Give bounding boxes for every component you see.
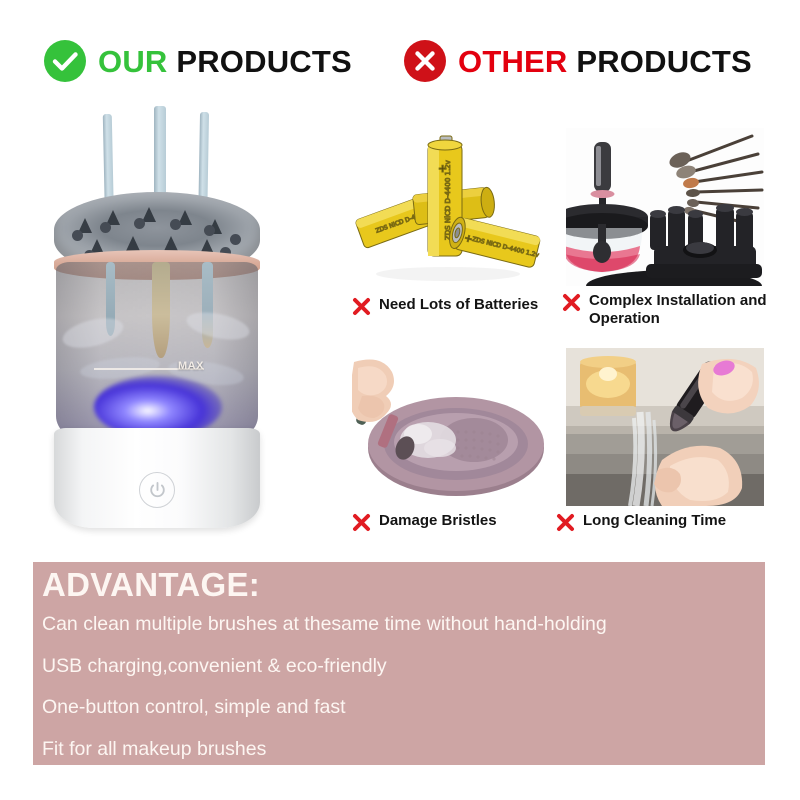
photo-spinner-brush-holder [566, 128, 764, 286]
max-label: MAX [178, 360, 204, 372]
caption-text: Complex Installation and Operation [589, 292, 772, 329]
advantage-item: One-button control, simple and fast [42, 698, 757, 718]
caption-need-lots-of-batteries: Need Lots of Batteries [352, 296, 552, 316]
svg-text:ZDS NiCD D-4400 1.2v: ZDS NiCD D-4400 1.2v [444, 160, 452, 240]
x-mark-icon [556, 513, 575, 532]
header-other-products: OTHER PRODUCTS [404, 40, 752, 82]
advantage-title: ADVANTAGE: [42, 566, 260, 604]
caption-long-cleaning-time: Long Cleaning Time [556, 512, 771, 532]
advantage-item: USB charging,convenient & eco-friendly [42, 657, 757, 677]
caption-text: Long Cleaning Time [583, 512, 726, 530]
caption-damage-bristles: Damage Bristles [352, 512, 552, 532]
caption-complex-installation-and-operation: Complex Installation and Operation [562, 292, 772, 329]
advantage-item: Fit for all makeup brushes [42, 740, 757, 760]
header-our-products: OUR PRODUCTS [44, 40, 352, 82]
power-button-icon[interactable] [139, 472, 175, 508]
header-our-highlight: OUR [98, 44, 168, 79]
header-other-products-text: OTHER PRODUCTS [458, 46, 752, 77]
product-hero-image: MAX [36, 100, 336, 540]
caption-text: Damage Bristles [379, 512, 497, 530]
check-circle-icon [44, 40, 86, 82]
brush-head [152, 262, 170, 358]
device-base [54, 428, 260, 528]
header-our-products-text: OUR PRODUCTS [98, 46, 352, 77]
photo-yellow-batteries: ZDS NiCD D-4400 1.2v + ZDS NiCD D-4400 1… [352, 128, 548, 286]
transparent-water-tank: MAX [56, 262, 258, 442]
x-mark-icon [562, 293, 581, 312]
advantage-item: Can clean multiple brushes at thesame ti… [42, 615, 757, 635]
advantage-panel: ADVANTAGE: Can clean multiple brushes at… [33, 562, 765, 765]
advantage-list: Can clean multiple brushes at thesame ti… [42, 615, 757, 781]
photo-hand-scrubbing-silicone-mat [352, 348, 548, 506]
x-mark-icon [352, 513, 371, 532]
x-mark-icon [352, 297, 371, 316]
header-our-rest: PRODUCTS [176, 44, 352, 79]
x-circle-icon [404, 40, 446, 82]
header-other-highlight: OTHER [458, 44, 568, 79]
photo-washing-brush-under-tap [566, 348, 764, 506]
header-other-rest: PRODUCTS [576, 44, 752, 79]
caption-text: Need Lots of Batteries [379, 296, 538, 314]
